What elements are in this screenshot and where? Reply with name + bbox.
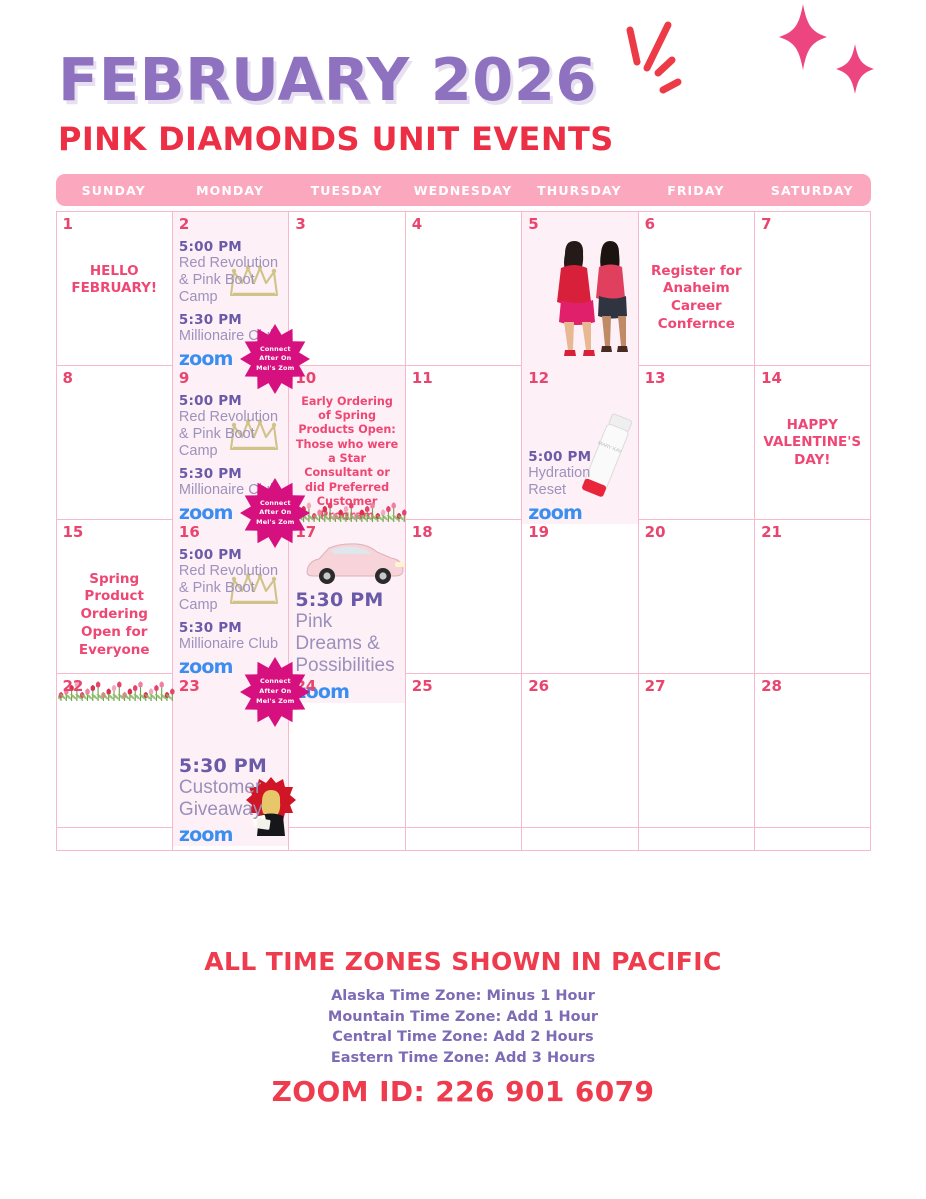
calendar-day-cell-7[interactable]: 7	[754, 212, 870, 370]
timezone-line: Eastern Time Zone: Add 3 Hours	[0, 1049, 926, 1068]
pink-cadillac-image	[301, 534, 409, 586]
calendar-day-cell-empty	[754, 828, 870, 850]
calendar-week-row: 2223 5:30 PM Customer Giveawayzoom242526…	[56, 673, 871, 827]
consultants-photo	[544, 238, 636, 364]
event-time: 5:00 PM	[179, 239, 282, 255]
day-of-week-sunday: SUNDAY	[56, 174, 172, 206]
calendar-day-cell-4[interactable]: 4	[405, 212, 521, 370]
timezone-list: Alaska Time Zone: Minus 1 HourMountain T…	[0, 987, 926, 1067]
day-of-week-saturday: SATURDAY	[754, 174, 870, 206]
day-number: 3	[295, 216, 398, 233]
calendar: SUNDAYMONDAYTUESDAYWEDNESDAYTHURSDAYFRID…	[56, 174, 871, 851]
day-number: 20	[645, 524, 748, 541]
day-number: 13	[645, 370, 748, 387]
calendar-day-cell-14[interactable]: 14HAPPY VALENTINE'S DAY!	[754, 366, 870, 524]
timezone-line: Mountain Time Zone: Add 1 Hour	[0, 1008, 926, 1027]
calendar-day-cell-empty	[288, 828, 404, 850]
calendar-day-cell-25[interactable]: 25	[405, 674, 521, 846]
day-events: 5:30 PM Customer Giveawayzoom	[179, 755, 282, 847]
day-number: 5	[528, 216, 631, 233]
calendar-day-cell-12[interactable]: 12 MARY KAY 5:00 PM Hydration Resetzoom	[521, 366, 637, 524]
event-entry[interactable]: 5:00 PM Red Revolution & Pink Boot Camp	[179, 547, 282, 614]
page-header: FEBRUARY 2026 PINK DIAMONDS UNIT EVENTS	[0, 0, 926, 158]
calendar-day-cell-28[interactable]: 28	[754, 674, 870, 846]
event-time: 5:00 PM	[179, 393, 282, 409]
event-name: Hydration Reset	[528, 465, 631, 499]
day-number: 12	[528, 370, 631, 387]
timezone-line: Alaska Time Zone: Minus 1 Hour	[0, 987, 926, 1006]
day-note: HAPPY VALENTINE'S DAY!	[761, 417, 863, 470]
calendar-day-cell-6[interactable]: 6Register for Anaheim Career Confernce	[638, 212, 754, 370]
day-note: Spring Product Ordering Open for Everyon…	[63, 571, 166, 660]
zoom-logo[interactable]: zoom	[528, 502, 631, 524]
calendar-day-cell-empty	[521, 828, 637, 850]
event-time: 5:30 PM	[179, 620, 282, 636]
calendar-weeks: 1HELLO FEBRUARY!2 5:00 PM Red Revolution…	[56, 211, 871, 851]
connect-badge-label: Connect After On Mel's Zom	[249, 345, 301, 374]
day-number: 4	[412, 216, 515, 233]
event-time: 5:30 PM	[295, 589, 398, 611]
connect-badge[interactable]: Connect After On Mel's Zom	[240, 478, 310, 548]
event-name: Red Revolution & Pink Boot Camp	[179, 255, 282, 306]
day-number: 28	[761, 678, 863, 695]
calendar-day-cell-empty	[56, 828, 172, 850]
day-number: 14	[761, 370, 863, 387]
event-entry[interactable]: 5:00 PM Red Revolution & Pink Boot Camp	[179, 393, 282, 460]
day-number: 17	[295, 524, 398, 541]
event-entry[interactable]: 5:00 PM Hydration Resetzoom	[528, 449, 631, 524]
day-note: Register for Anaheim Career Confernce	[645, 263, 748, 334]
day-number: 2	[179, 216, 282, 233]
calendar-week-row: 89 5:00 PM Red Revolution & Pink Boot Ca…	[56, 365, 871, 519]
calendar-day-cell-2[interactable]: 2 5:00 PM Red Revolution & Pink Boot Cam…	[172, 212, 288, 370]
day-of-week-friday: FRIDAY	[638, 174, 754, 206]
event-name: Customer Giveaway	[179, 777, 282, 822]
calendar-day-cell-13[interactable]: 13	[638, 366, 754, 524]
footer: ALL TIME ZONES SHOWN IN PACIFIC Alaska T…	[0, 947, 926, 1108]
day-of-week-thursday: THURSDAY	[521, 174, 637, 206]
day-number: 24	[295, 678, 398, 695]
zoom-logo[interactable]: zoom	[179, 824, 282, 846]
day-number: 18	[412, 524, 515, 541]
day-number: 22	[63, 678, 166, 695]
event-name: Pink Dreams & Possibilities	[295, 611, 398, 678]
day-number: 6	[645, 216, 748, 233]
day-number: 15	[63, 524, 166, 541]
day-note: Early Ordering of Spring Products Open: …	[295, 395, 398, 524]
calendar-day-cell-27[interactable]: 27	[638, 674, 754, 846]
event-entry[interactable]: 5:00 PM Red Revolution & Pink Boot Camp	[179, 239, 282, 306]
zoom-id: ZOOM ID: 226 901 6079	[0, 1075, 926, 1108]
day-number: 21	[761, 524, 863, 541]
timezone-line: Central Time Zone: Add 2 Hours	[0, 1028, 926, 1047]
day-of-week-wednesday: WEDNESDAY	[405, 174, 521, 206]
connect-badge-label: Connect After On Mel's Zom	[249, 677, 301, 706]
connect-badge[interactable]: Connect After On Mel's Zom	[240, 657, 310, 727]
event-name: Red Revolution & Pink Boot Camp	[179, 563, 282, 614]
event-time: 5:00 PM	[179, 547, 282, 563]
calendar-day-cell-26[interactable]: 26	[521, 674, 637, 846]
calendar-day-cell-1[interactable]: 1HELLO FEBRUARY!	[56, 212, 172, 370]
day-number: 7	[761, 216, 863, 233]
day-of-week-monday: MONDAY	[172, 174, 288, 206]
calendar-day-cell-8[interactable]: 8	[56, 366, 172, 524]
calendar-day-cell-empty	[638, 828, 754, 850]
calendar-day-cell-11[interactable]: 11	[405, 366, 521, 524]
connect-badge-label: Connect After On Mel's Zom	[249, 499, 301, 528]
day-of-week-tuesday: TUESDAY	[288, 174, 404, 206]
event-name: Red Revolution & Pink Boot Camp	[179, 409, 282, 460]
day-of-week-header: SUNDAYMONDAYTUESDAYWEDNESDAYTHURSDAYFRID…	[56, 174, 871, 206]
day-number: 25	[412, 678, 515, 695]
page-title: FEBRUARY 2026	[58, 52, 926, 108]
calendar-week-row: 1HELLO FEBRUARY!2 5:00 PM Red Revolution…	[56, 211, 871, 365]
connect-badge[interactable]: Connect After On Mel's Zom	[240, 324, 310, 394]
calendar-day-cell-22[interactable]: 22	[56, 674, 172, 846]
calendar-day-cell-5[interactable]: 5	[521, 212, 637, 370]
day-number: 8	[63, 370, 166, 387]
page-subtitle: PINK DIAMONDS UNIT EVENTS	[58, 120, 926, 158]
day-number: 11	[412, 370, 515, 387]
day-number: 27	[645, 678, 748, 695]
event-time: 5:00 PM	[528, 449, 631, 465]
calendar-week-row: 15Spring Product Ordering Open for Every…	[56, 519, 871, 673]
timezone-heading: ALL TIME ZONES SHOWN IN PACIFIC	[0, 947, 926, 976]
day-number: 19	[528, 524, 631, 541]
day-note: HELLO FEBRUARY!	[63, 263, 166, 299]
calendar-week-row-partial	[56, 827, 871, 851]
event-name: Millionaire Club	[179, 636, 282, 653]
day-events: 5:00 PM Hydration Resetzoom	[528, 449, 631, 524]
day-number: 10	[295, 370, 398, 387]
day-number: 26	[528, 678, 631, 695]
event-entry[interactable]: 5:30 PM Customer Giveawayzoom	[179, 755, 282, 847]
event-time: 5:30 PM	[179, 755, 282, 777]
calendar-day-cell-empty	[405, 828, 521, 850]
day-number: 1	[63, 216, 166, 233]
